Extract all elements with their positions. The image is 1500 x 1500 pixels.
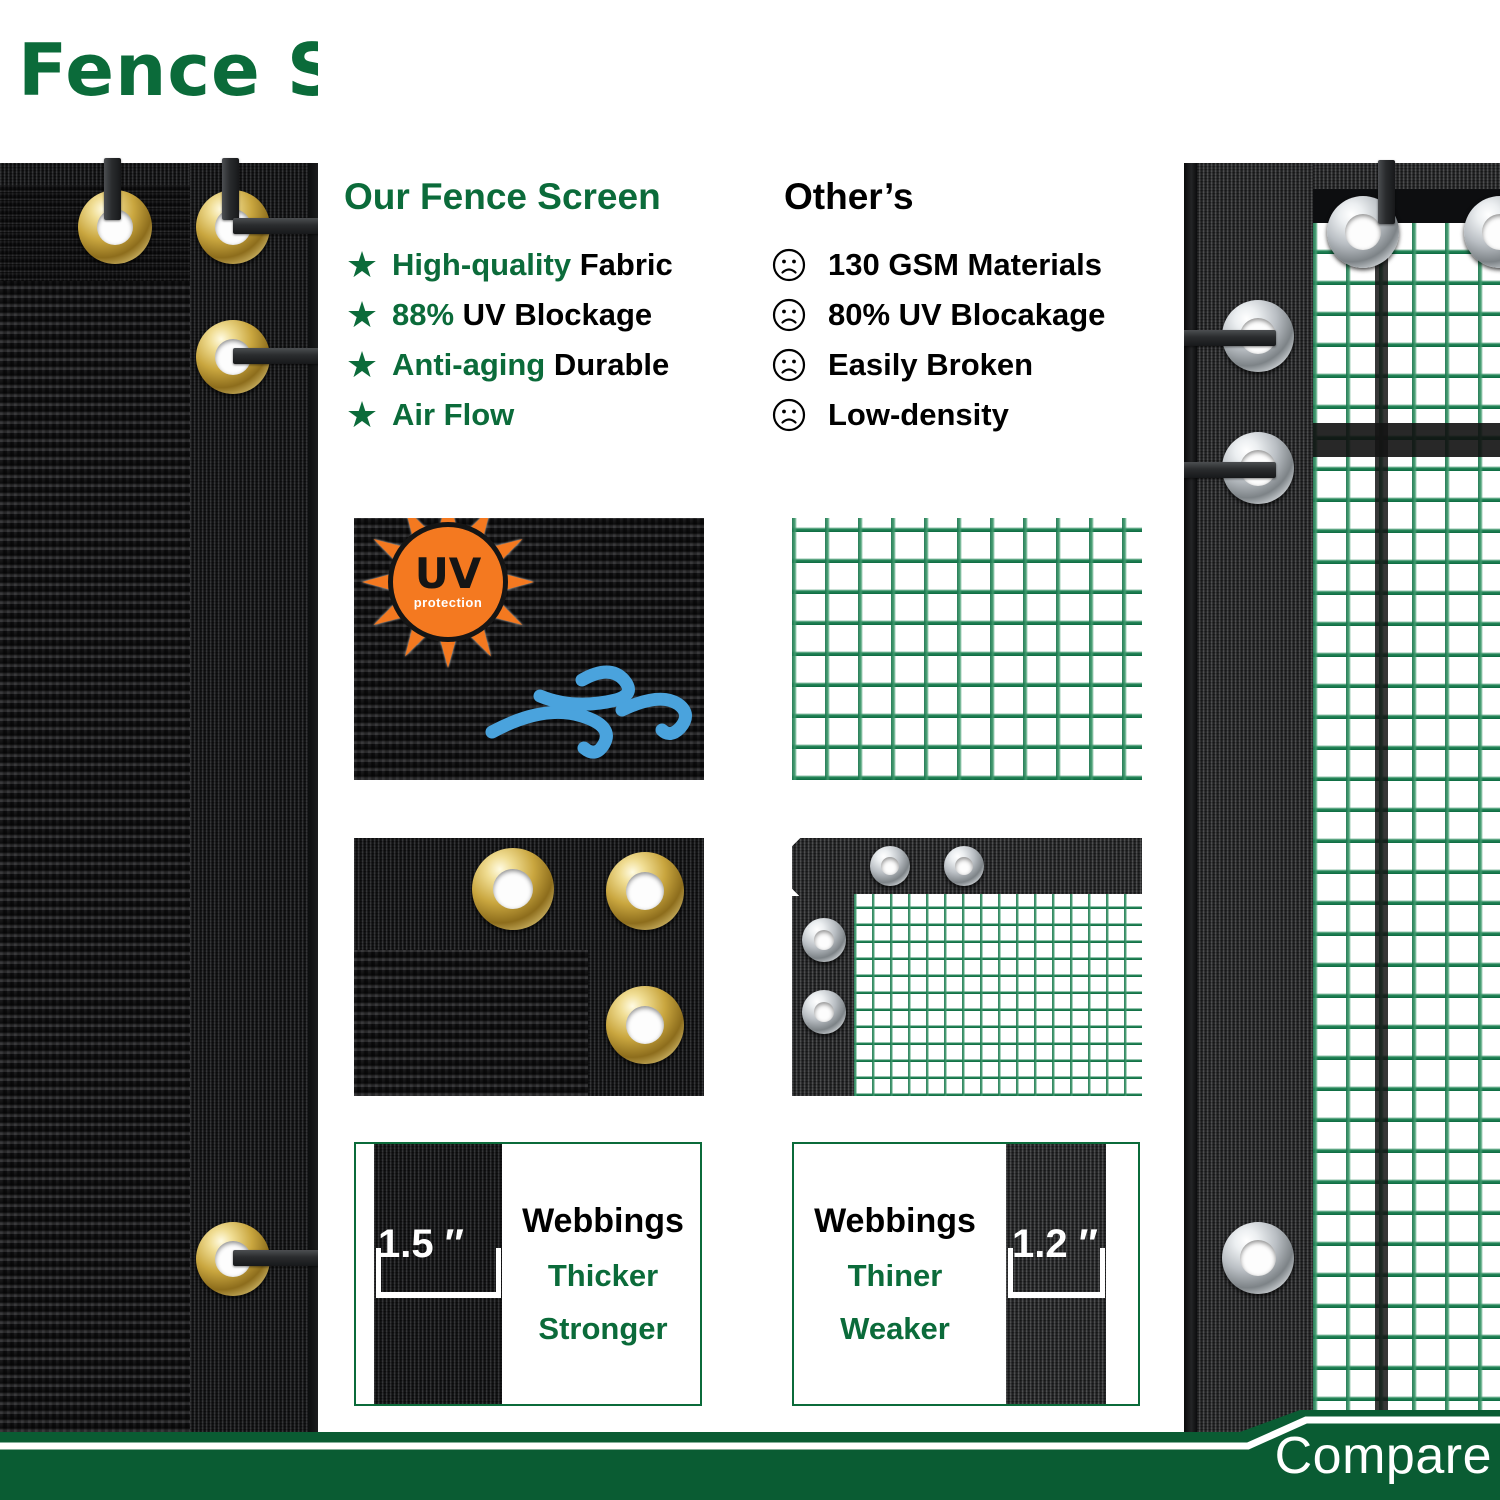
our-grommet-photo (354, 838, 704, 1096)
feature-text: Air Flow (392, 397, 514, 433)
sad-face-icon (772, 298, 806, 332)
feature-row: Easily Broken (768, 340, 1168, 390)
webbing-caption: Webbings Thiner Weaker (794, 1144, 996, 1404)
competitor-webbing-comparison-box: 1.2 ″ Webbings Thiner Weaker (792, 1142, 1140, 1406)
uv-label: UV (415, 555, 482, 593)
webbing-title: Webbings (814, 1204, 976, 1238)
right-panel-left-edge (1183, 163, 1197, 1432)
other-feature-list: 130 GSM Materials 80% UV Blocakage Easil… (768, 240, 1168, 440)
feature-text: Easily Broken (828, 347, 1033, 383)
measure-tick-right (1100, 1248, 1105, 1294)
feature-text: 80% UV Blocakage (828, 297, 1105, 333)
grommet-brass (606, 986, 684, 1064)
measure-tick-left (376, 1248, 381, 1294)
grommet-silver (870, 846, 910, 886)
feature-row: ★ 88% UV Blockage (344, 290, 764, 340)
webbing-line-1: Thicker (548, 1260, 658, 1291)
measure-baseline (1008, 1292, 1105, 1298)
content-panel: Our Fence Screen Other’s ★ High-quality … (318, 0, 1184, 1432)
star-icon: ★ (344, 298, 380, 332)
zip-tie (104, 158, 121, 220)
feature-text: Anti-aging Durable (392, 347, 669, 383)
grommet-photo-knit-area (354, 950, 588, 1096)
measure-tick-right (496, 1248, 501, 1294)
ours-column-heading: Our Fence Screen (344, 176, 661, 218)
zip-tie (233, 348, 323, 364)
right-panel-green-mesh (1313, 223, 1500, 1432)
star-icon: ★ (344, 348, 380, 382)
zip-tie (1180, 330, 1276, 346)
feature-row: ★ Air Flow (344, 390, 764, 440)
webbing-caption: Webbings Thicker Stronger (506, 1144, 700, 1404)
feature-row: ★ High-quality Fabric (344, 240, 764, 290)
uv-protection-badge: UV protection (362, 518, 534, 668)
feature-text: High-quality Fabric (392, 247, 673, 283)
star-icon: ★ (344, 398, 380, 432)
mesh-dark-seam (1313, 423, 1500, 457)
webbing-line-1: Thiner (848, 1260, 943, 1291)
competitor-mesh-photo (792, 518, 1142, 780)
infographic-canvas: Our Fence Screen Other’s ★ High-quality … (0, 0, 1500, 1500)
grommet-silver (802, 918, 846, 962)
webbing-measure-label: 1.5 ″ (378, 1222, 464, 1267)
webbing-strap-thick (374, 1144, 502, 1404)
feature-text: 130 GSM Materials (828, 247, 1102, 283)
star-icon: ★ (344, 248, 380, 282)
competitor-grommet-photo (792, 838, 1142, 1096)
our-webbing-comparison-box: 1.5 ″ Webbings Thicker Stronger (354, 1142, 702, 1406)
competitor-mesh-area (854, 894, 1142, 1096)
grommet-brass (472, 848, 554, 930)
webbing-line-2: Weaker (840, 1313, 950, 1344)
uv-badge-disc: UV protection (388, 522, 508, 642)
feature-row: 130 GSM Materials (768, 240, 1168, 290)
uv-sublabel: protection (414, 595, 483, 610)
measure-tick-left (1008, 1248, 1013, 1294)
grommet-brass (606, 852, 684, 930)
left-panel-knit-body (0, 281, 190, 1432)
zip-tie (1180, 462, 1276, 478)
sad-face-icon (772, 398, 806, 432)
feature-text: 88% UV Blockage (392, 297, 652, 333)
other-column-heading: Other’s (784, 176, 914, 218)
webbing-strap-thin (1006, 1144, 1106, 1404)
compare-label: Compare (1275, 1426, 1492, 1486)
grommet-silver (1222, 1222, 1294, 1294)
mesh-vertical-seam (1375, 223, 1388, 1432)
grommet-silver (802, 990, 846, 1034)
feature-text: Low-density (828, 397, 1009, 433)
torn-fabric-edge (792, 838, 854, 896)
feature-row: 80% UV Blocakage (768, 290, 1168, 340)
zip-tie (233, 1250, 323, 1266)
sad-face-icon (772, 348, 806, 382)
feature-row: Low-density (768, 390, 1168, 440)
webbing-measure-label: 1.2 ″ (1012, 1222, 1098, 1267)
webbing-line-2: Stronger (538, 1313, 667, 1344)
grommet-silver (944, 846, 984, 886)
webbing-title: Webbings (522, 1204, 684, 1238)
feature-row: ★ Anti-aging Durable (344, 340, 764, 390)
zip-tie (222, 158, 239, 220)
zip-tie (1378, 160, 1395, 224)
zip-tie (233, 218, 323, 234)
measure-baseline (376, 1292, 501, 1298)
uv-airflow-photo: UV protection (354, 518, 704, 780)
sad-face-icon (772, 248, 806, 282)
ours-feature-list: ★ High-quality Fabric ★ 88% UV Blockage … (344, 240, 764, 440)
